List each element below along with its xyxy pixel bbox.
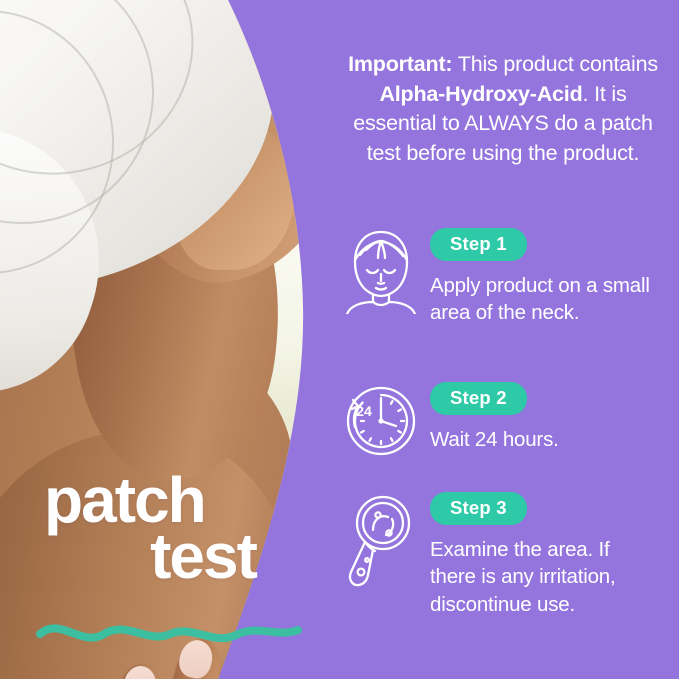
important-label: Important: — [348, 52, 452, 76]
step-3-badge: Step 3 — [430, 492, 527, 525]
hero-title: patch test — [44, 472, 344, 585]
step-1-badge: Step 1 — [430, 228, 527, 261]
notice-text-1: This product contains — [452, 52, 658, 76]
step-3-body: Step 3 Examine the area. If there is any… — [430, 492, 660, 618]
content-column: Important: This product contains Alpha-H… — [330, 0, 679, 679]
step-2-body: Step 2 Wait 24 hours. — [430, 382, 660, 453]
face-with-towel-turban-icon — [342, 228, 420, 314]
step-3-icon-wrap — [342, 492, 420, 578]
clock-24-label: 24 — [356, 403, 372, 419]
step-2-badge: Step 2 — [430, 382, 527, 415]
step-2-icon-wrap: 24 — [342, 382, 420, 468]
infographic-root: patch test Important: This product conta… — [0, 0, 679, 679]
magnifying-glass-icon — [342, 492, 420, 592]
step-1-icon-wrap — [342, 228, 420, 314]
title-line-test: test — [44, 528, 344, 584]
step-3-text: Examine the area. If there is any irrita… — [430, 536, 660, 618]
step-2-text: Wait 24 hours. — [430, 426, 660, 453]
step-1-body: Step 1 Apply product on a small area of … — [430, 228, 660, 327]
important-notice: Important: This product contains Alpha-H… — [342, 50, 664, 169]
clock-24-hours-icon: 24 — [342, 382, 420, 460]
wave-divider-icon — [36, 614, 306, 650]
step-1-text: Apply product on a small area of the nec… — [430, 272, 660, 327]
ingredient-highlight: Alpha-Hydroxy-Acid — [379, 82, 582, 106]
